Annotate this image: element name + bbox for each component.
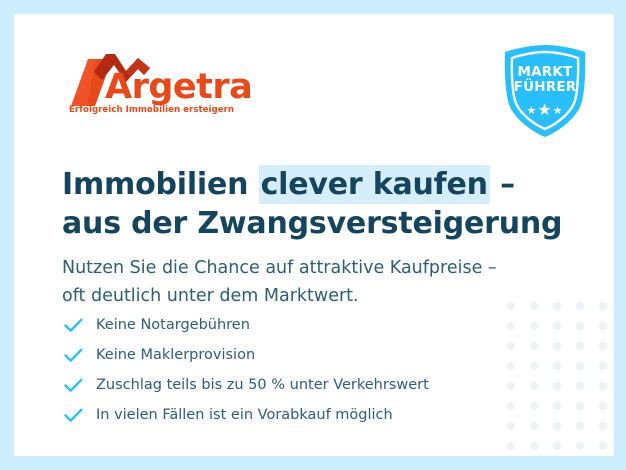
decorative-dot [553, 382, 561, 390]
list-item-label: In vielen Fällen ist ein Vorabkauf mögli… [96, 405, 393, 425]
check-icon [64, 348, 96, 363]
badge-stars: ★★★ [495, 100, 595, 120]
check-icon [64, 318, 96, 333]
decorative-dot [599, 442, 607, 450]
decorative-dot [576, 402, 584, 410]
list-item-label: Keine Notargebühren [96, 315, 250, 335]
decorative-dot [576, 362, 584, 370]
headline-text-after: – [490, 167, 515, 202]
badge-text: MARKT FÜHRER [495, 65, 595, 95]
decorative-dot [576, 342, 584, 350]
decorative-dot [553, 402, 561, 410]
decorative-dot [553, 342, 561, 350]
headline-text-before: Immobilien [62, 167, 259, 202]
badge-line-1: MARKT [495, 65, 595, 80]
list-item-label: Zuschlag teils bis zu 50 % unter Verkehr… [96, 375, 429, 395]
list-item: In vielen Fällen ist ein Vorabkauf mögli… [64, 400, 534, 430]
decorative-dot [576, 302, 584, 310]
decorative-dot [553, 322, 561, 330]
page-title: Immobilien clever kaufen – aus der Zwang… [62, 165, 582, 243]
decorative-dot [576, 422, 584, 430]
subheading: Nutzen Sie die Chance auf attraktive Kau… [62, 254, 562, 310]
decorative-dot [599, 402, 607, 410]
benefits-checklist: Keine Notargebühren Keine Maklerprovisio… [64, 310, 534, 430]
decorative-dot [599, 382, 607, 390]
list-item: Keine Maklerprovision [64, 340, 534, 370]
list-item: Zuschlag teils bis zu 50 % unter Verkehr… [64, 370, 534, 400]
subheading-line-1: Nutzen Sie die Chance auf attraktive Kau… [62, 258, 497, 278]
decorative-dot [599, 322, 607, 330]
argetra-logo[interactable]: Argetra Erfolgreich Immobilien ersteiger… [58, 44, 258, 124]
decorative-dot [553, 362, 561, 370]
decorative-dot [576, 442, 584, 450]
headline-line-2: aus der Zwangsversteigerung [62, 206, 562, 241]
check-icon [64, 378, 96, 393]
decorative-dot [530, 442, 538, 450]
star-icon-left: ★ [526, 105, 537, 117]
decorative-dot [599, 302, 607, 310]
logo-wordmark: Argetra [105, 70, 252, 105]
subheading-line-2: oft deutlich unter dem Marktwert. [62, 286, 359, 306]
decorative-dot [599, 362, 607, 370]
list-item-label: Keine Maklerprovision [96, 345, 255, 365]
headline-line-1: Immobilien clever kaufen – [62, 165, 515, 204]
decorative-dot [507, 442, 515, 450]
headline-highlight: clever kaufen [259, 165, 490, 204]
promo-card: Argetra Erfolgreich Immobilien ersteiger… [14, 14, 614, 456]
markt-fuehrer-badge: MARKT FÜHRER ★★★ [495, 43, 595, 139]
check-icon [64, 408, 96, 423]
decorative-dot [599, 422, 607, 430]
star-icon-center: ★ [537, 102, 552, 119]
decorative-dot [576, 382, 584, 390]
list-item: Keine Notargebühren [64, 310, 534, 340]
logo-tagline: Erfolgreich Immobilien ersteigern [69, 105, 234, 115]
decorative-dot [576, 322, 584, 330]
star-icon-right: ★ [553, 105, 564, 117]
decorative-dot [553, 422, 561, 430]
decorative-dot [599, 342, 607, 350]
badge-line-2: FÜHRER [495, 80, 595, 95]
decorative-dot [553, 442, 561, 450]
